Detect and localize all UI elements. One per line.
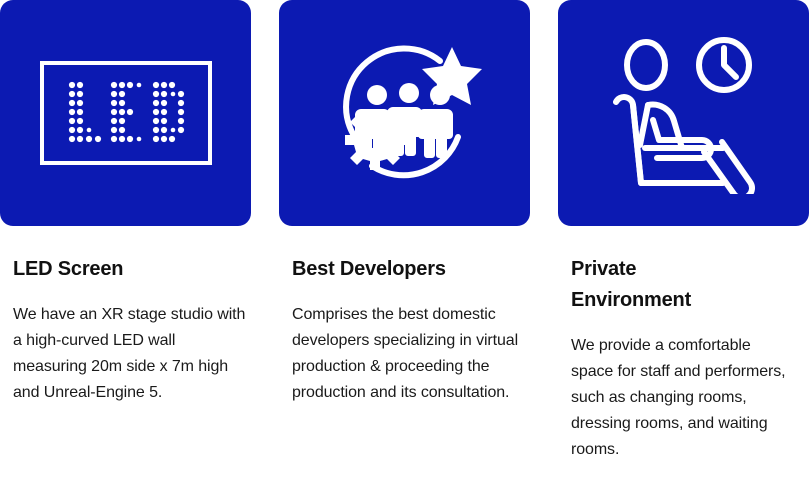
card-title: Best Developers [292,254,492,285]
features-grid: LED Screen We have an XR stage studio wi… [0,0,811,502]
card-title: LED Screen [13,254,213,285]
card-body: We have an XR stage studio with a high-c… [13,302,249,406]
developers-team-icon [325,33,485,193]
icon-tile-led-screen [0,0,251,226]
card-body: We provide a comfortable space for staff… [571,333,786,463]
feature-card-private-environment: Private Environment We provide a comfort… [558,0,809,463]
card-title: Private Environment [571,254,731,316]
feature-card-best-developers: Best Developers Comprises the best domes… [279,0,530,406]
icon-tile-best-developers [279,0,530,226]
icon-tile-private-environment [558,0,809,226]
card-body: Comprises the best domestic developers s… [292,302,524,406]
led-screen-icon [40,61,212,165]
seated-person-clock-icon [604,32,764,194]
feature-card-led-screen: LED Screen We have an XR stage studio wi… [0,0,251,406]
